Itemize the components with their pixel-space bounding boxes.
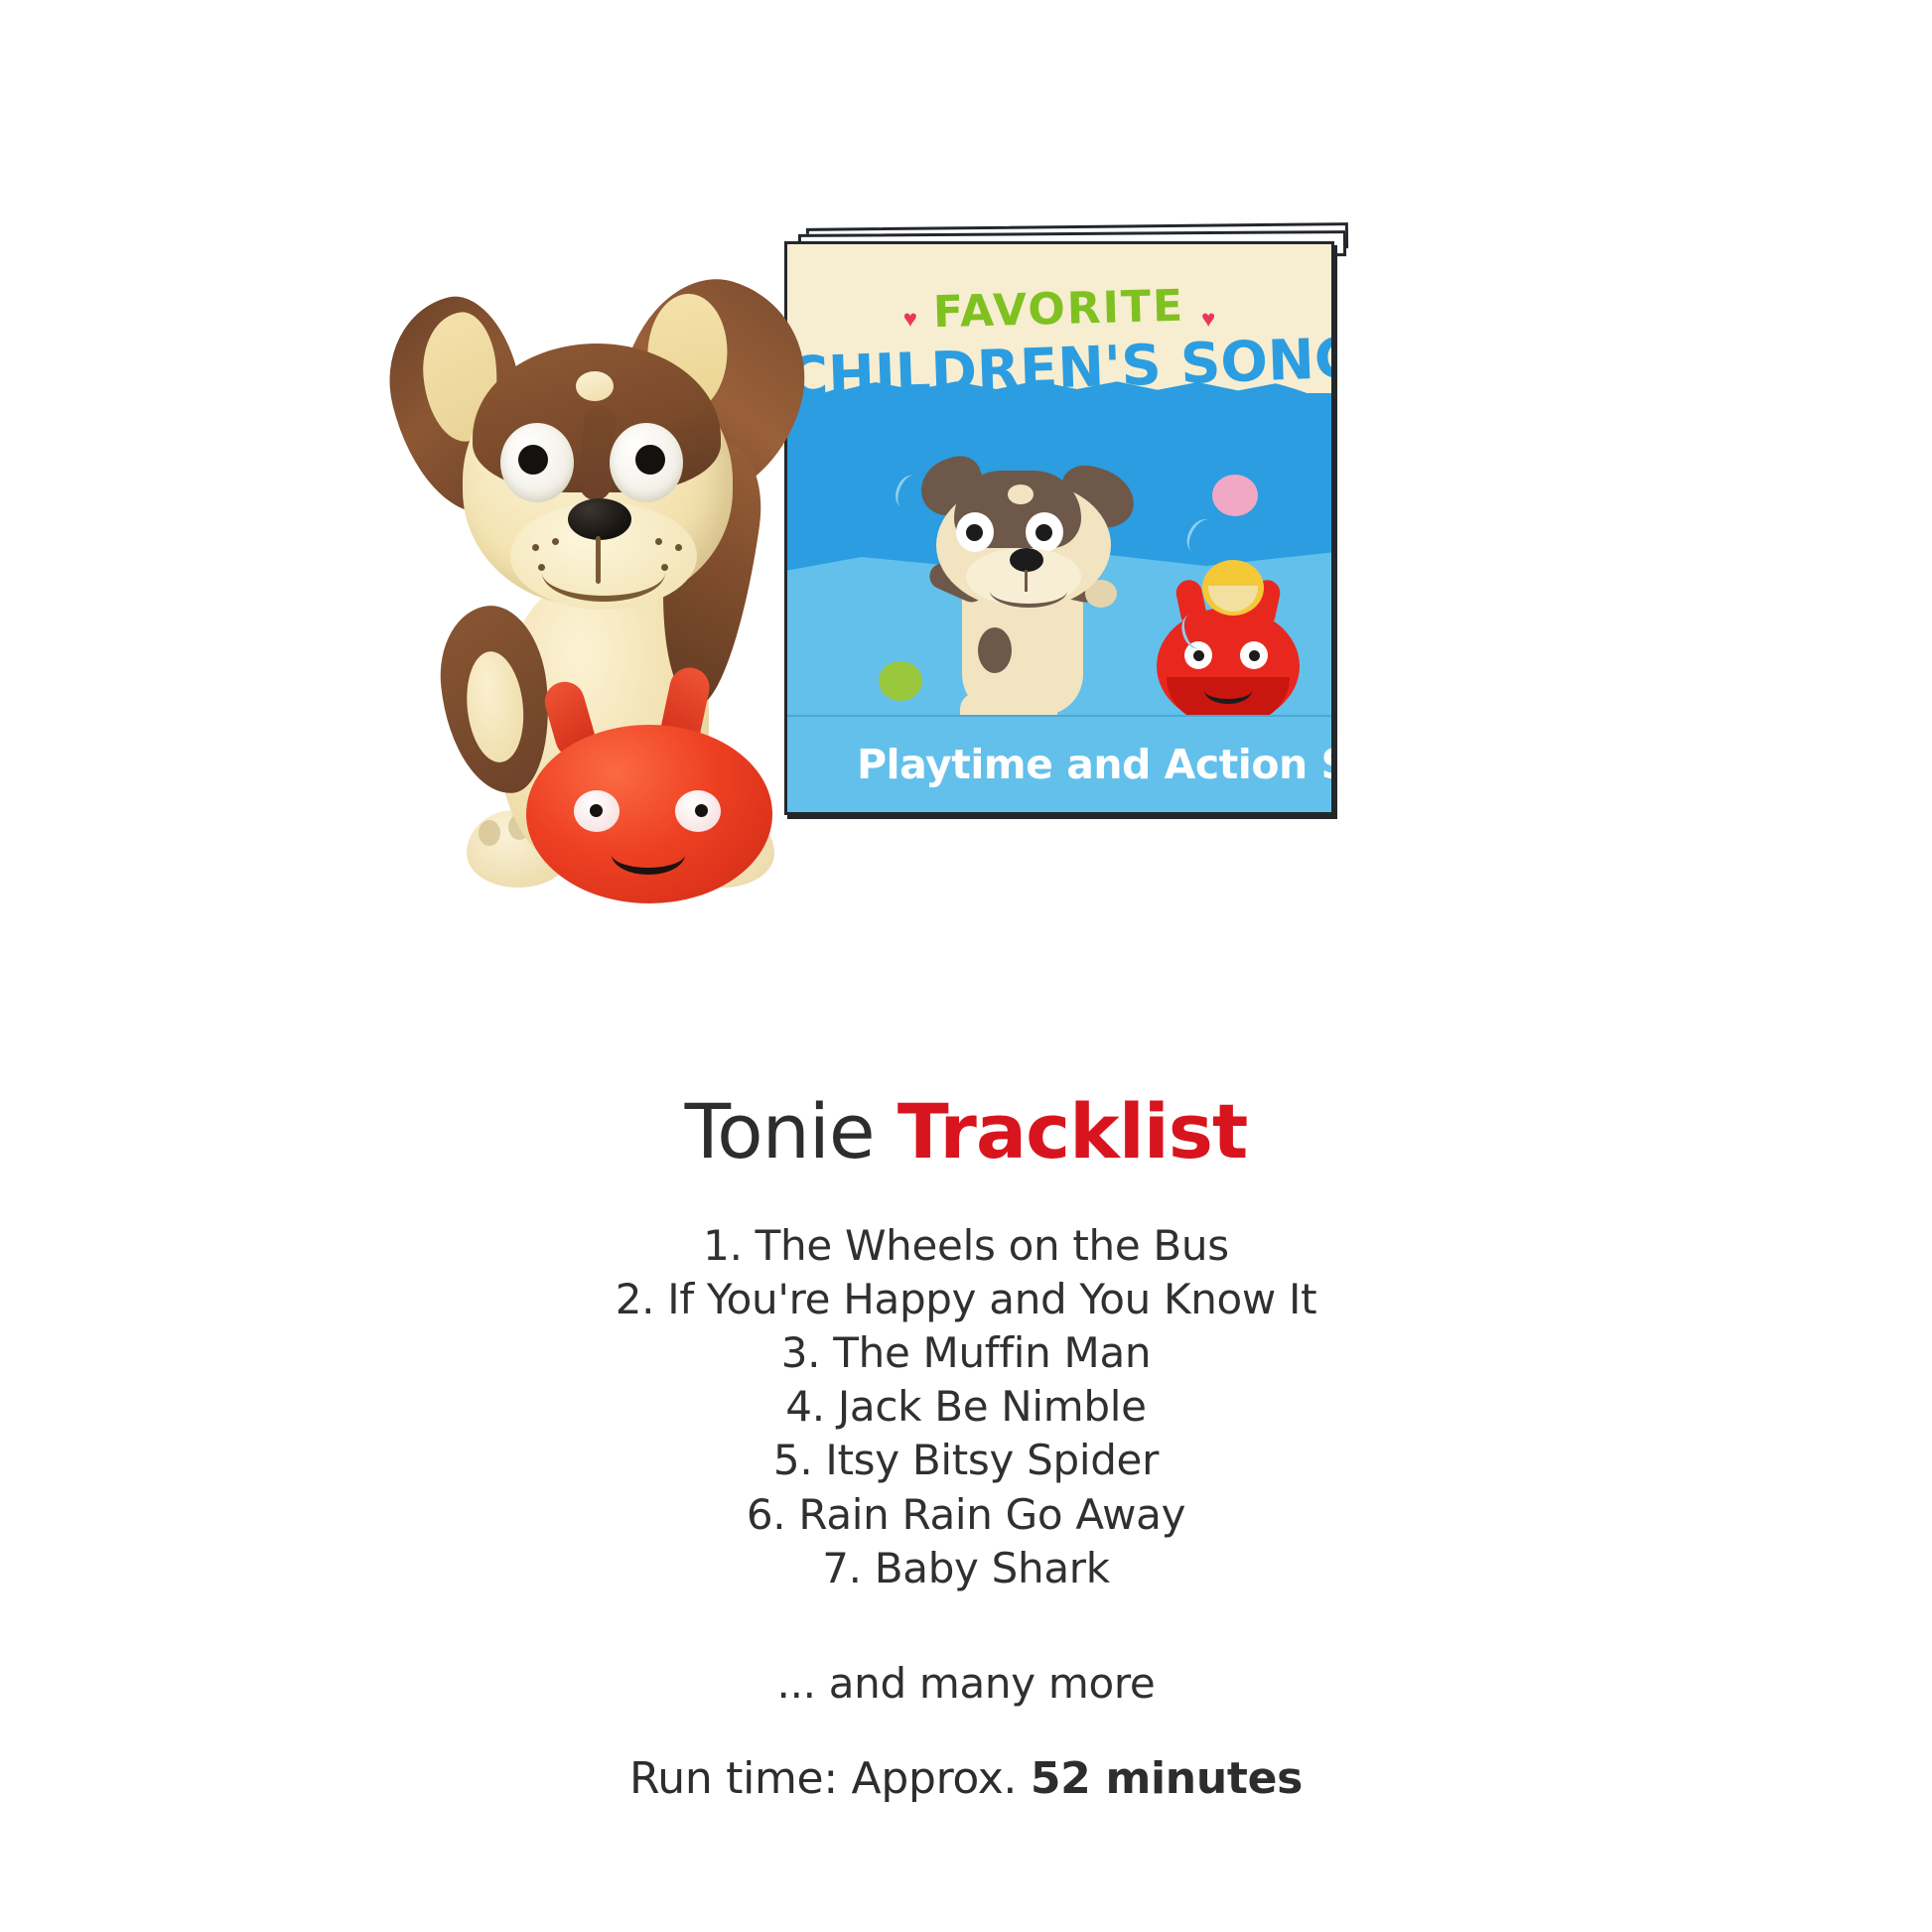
tracklist-spacer [0,1595,1932,1659]
runtime-label: Run time: Approx. [629,1753,1031,1804]
tracklist-items: 1. The Wheels on the Bus 2. If You're Ha… [0,1219,1932,1595]
list-item: 6. Rain Rain Go Away [0,1488,1932,1542]
runtime-value: 52 minutes [1031,1753,1303,1804]
list-item: 3. The Muffin Man [0,1326,1932,1380]
list-item: 2. If You're Happy and You Know It [0,1273,1932,1326]
list-item: 7. Baby Shark [0,1542,1932,1595]
list-item: 1. The Wheels on the Bus [0,1219,1932,1273]
list-item: 4. Jack Be Nimble [0,1380,1932,1434]
illus-red-pupil-right [1249,650,1260,661]
tracklist-heading: Tonie Tracklist [0,1092,1932,1172]
tonie-figure [415,328,931,973]
list-item: 5. Itsy Bitsy Spider [0,1434,1932,1487]
illus-dog-nose [1010,548,1043,572]
figure-red-pupil-right [695,804,708,817]
illus-red-pupil-left [1193,650,1204,661]
figure-mouth-line [596,536,601,584]
illus-ball-pink [1212,475,1258,516]
illus-dog-forehead-dot [1008,484,1034,504]
illus-dog-pupil-right [1035,524,1052,541]
product-hero-image: ♥ FAVORITE ♥ CHILDREN'S SONGS [0,0,1932,1077]
figure-pupil-left [518,445,548,475]
figure-arm-left-inner [462,648,528,764]
figure-red-smile [612,834,685,875]
illus-ball-yellow [1202,560,1264,616]
figure-nose [568,498,631,540]
illus-dog-body-spot [978,627,1012,673]
figure-forehead-dot [576,371,614,401]
cover-eyebrow-text: FAVORITE [933,281,1185,339]
illus-dog-smile [990,574,1067,608]
illus-red-smile [1204,677,1252,704]
figure-pupil-right [635,445,665,475]
heart-icon-right: ♥ [1201,306,1215,334]
illus-dog-mouth-line [1025,570,1028,592]
figure-red-pupil-left [590,804,603,817]
figure-red-body [526,725,772,903]
tracklist-heading-accent: Tracklist [897,1087,1248,1175]
figure-smile [542,544,665,602]
illus-dog-pupil-left [966,524,983,541]
tracklist-more-note: ... and many more [0,1659,1932,1708]
tracklist-section: Tonie Tracklist 1. The Wheels on the Bus… [0,1092,1932,1804]
tracklist-heading-plain: Tonie [685,1087,897,1175]
runtime-line: Run time: Approx. 52 minutes [0,1753,1932,1804]
figure-red-creature [526,697,776,905]
product-detail-page: ♥ FAVORITE ♥ CHILDREN'S SONGS [0,0,1932,1932]
